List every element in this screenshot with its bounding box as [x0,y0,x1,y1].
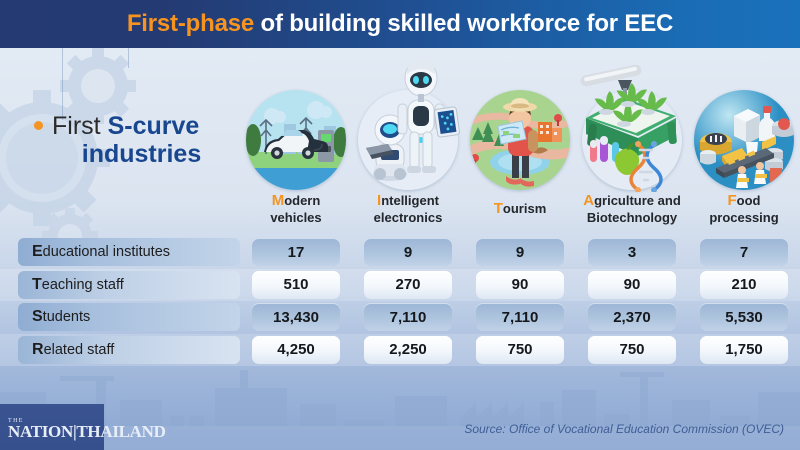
data-cell: 90 [476,271,564,299]
robot-icon [352,52,464,192]
section-label-line1-plain: First [52,112,101,140]
row-label: Students [18,303,240,331]
row-label-initial: R [32,341,44,359]
column-header-initial: T [494,200,503,217]
data-cell: 210 [700,271,788,299]
table-row: Educational institutes 17 9 9 3 7 [0,236,800,269]
industry-icon-cell [352,52,464,192]
biotech-farming-icon [576,52,688,192]
data-cell: 7 [700,238,788,266]
column-header-rest: odern [284,193,320,208]
data-cell: 17 [252,238,340,266]
footer: THE NATION|THAILAND Source: Office of Vo… [0,404,800,450]
section-label: First S-curve industries [34,112,239,168]
data-cell: 3 [588,238,676,266]
row-label-rest: tudents [43,309,91,325]
table-header-row: Modern vehicles Intelligent electronics … [0,192,800,236]
electric-vehicle-icon [246,90,346,190]
bullet-dot-icon [34,121,43,130]
data-cell: 1,750 [700,336,788,364]
industry-icon-cell [240,52,352,192]
row-label: Teaching staff [18,271,240,299]
column-header: Intelligent electronics [352,192,464,225]
row-label-rest: elated staff [44,342,115,358]
column-header-initial: A [583,192,594,209]
column-header-rest: ourism [503,201,546,216]
data-cell: 9 [364,238,452,266]
hang-line [62,48,63,120]
hang-line [128,48,129,68]
data-cell: 2,370 [588,303,676,331]
column-header-line2: electronics [374,210,443,225]
industry-icon-cell [576,52,688,192]
data-cell: 270 [364,271,452,299]
infographic-root: First-phase of building skilled workforc… [0,0,800,450]
row-label: Educational institutes [18,238,240,266]
column-header-line2: processing [709,210,778,225]
food-processing-icon [694,90,794,190]
data-cell: 90 [588,271,676,299]
page-title-rest: of building skilled workforce for EEC [254,10,673,37]
logo-name: NATION|THAILAND [8,422,166,442]
column-header: Agriculture and Biotechnology [564,192,700,225]
data-table: Modern vehicles Intelligent electronics … [0,192,800,366]
row-label-rest: ducational institutes [43,244,170,260]
data-cell: 9 [476,238,564,266]
data-cell: 7,110 [364,303,452,331]
section-label-line1-strong: S-curve [108,112,200,140]
page-title: First-phase of building skilled workforc… [127,10,673,38]
column-header: Modern vehicles [240,192,352,225]
tourist-icon [470,90,570,190]
page-title-highlight: First-phase [127,10,254,37]
column-header: Food processing [688,192,800,225]
header-bar: First-phase of building skilled workforc… [0,0,800,48]
data-cell: 750 [476,336,564,364]
industry-icon-row [240,52,800,192]
table-row: Teaching staff 510 270 90 90 210 [0,269,800,302]
column-header-rest: griculture and [594,193,681,208]
column-header-initial: M [272,192,285,209]
column-header-line2: Biotechnology [587,210,677,225]
row-label-rest: eaching staff [42,277,124,293]
data-cell: 13,430 [252,303,340,331]
data-cell: 2,250 [364,336,452,364]
nation-thailand-logo[interactable]: THE NATION|THAILAND [8,418,166,442]
table-row: Students 13,430 7,110 7,110 2,370 5,530 [0,301,800,334]
data-cell: 4,250 [252,336,340,364]
section-label-line2: industries [34,140,239,168]
column-header-rest: ntelligent [381,193,439,208]
source-credit: Source: Office of Vocational Education C… [464,422,784,436]
column-header-line2: vehicles [270,210,321,225]
industry-icon-cell [688,52,800,192]
table-row: Related staff 4,250 2,250 750 750 1,750 [0,334,800,367]
data-cell: 750 [588,336,676,364]
data-cell: 5,530 [700,303,788,331]
column-header-initial: F [728,192,737,209]
industry-icon-cell [464,52,576,192]
row-label-initial: T [32,276,42,294]
data-cell: 510 [252,271,340,299]
data-cell: 7,110 [476,303,564,331]
row-label: Related staff [18,336,240,364]
row-label-initial: S [32,308,43,326]
row-label-initial: E [32,243,43,261]
column-header: Tourism [464,200,576,218]
column-header-rest: ood [737,193,761,208]
